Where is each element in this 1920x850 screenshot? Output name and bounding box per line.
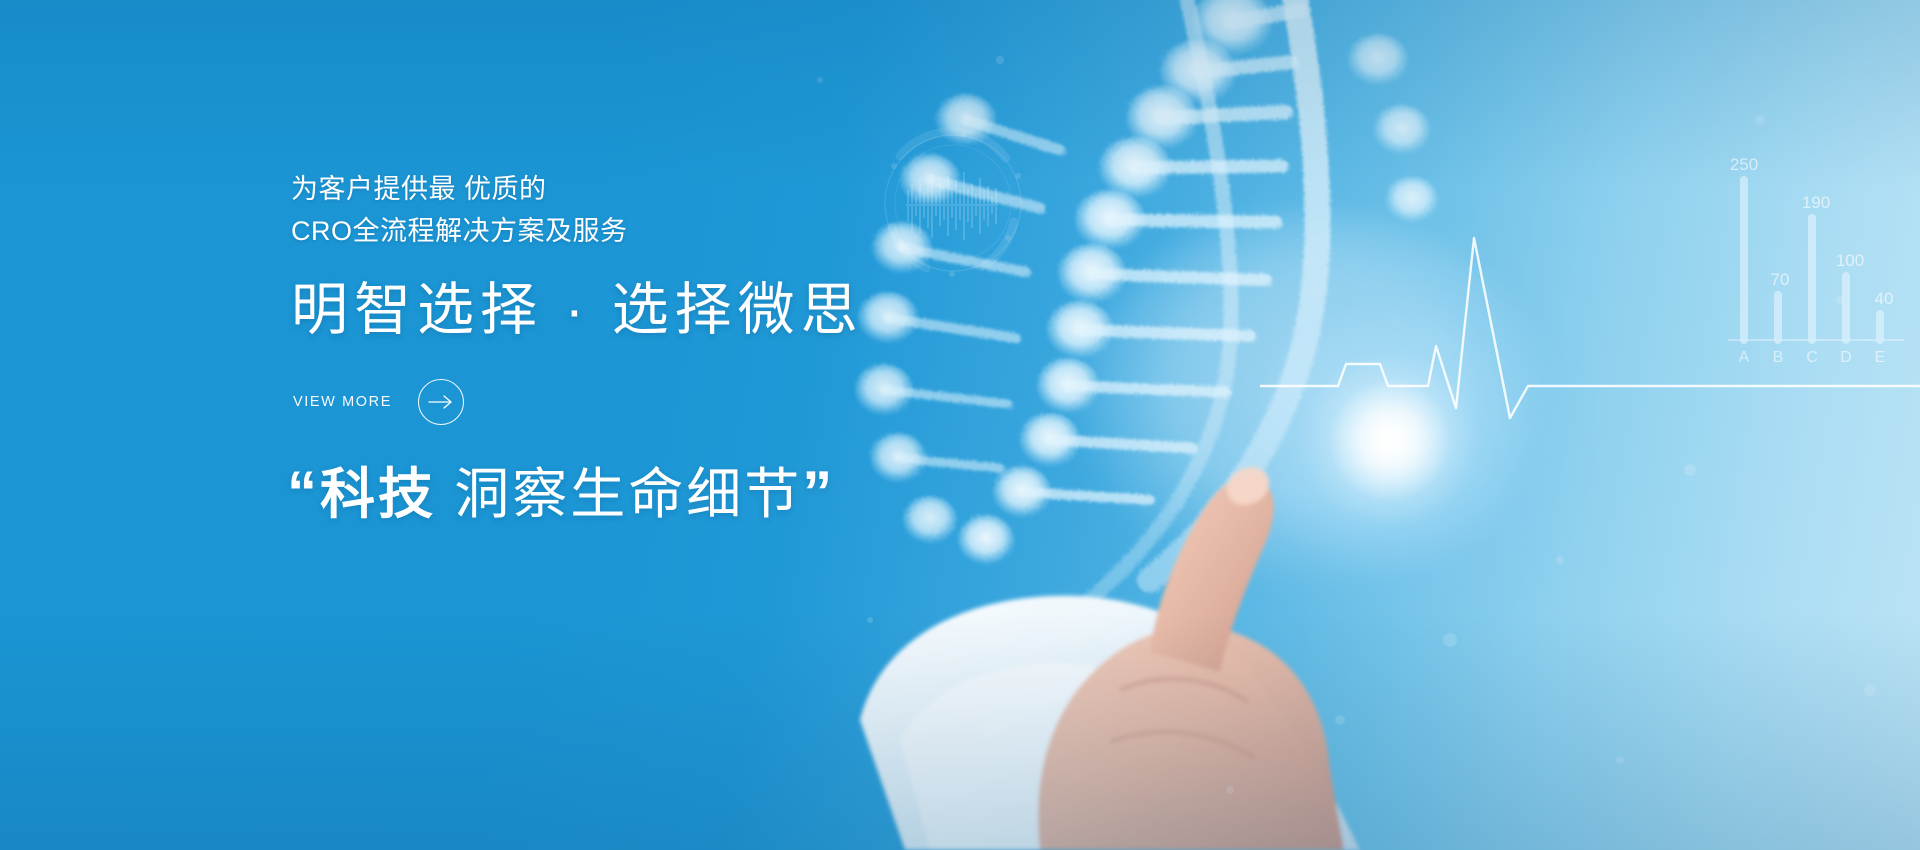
arrow-right-icon[interactable] [418,379,464,425]
view-more-button[interactable]: VIEW MORE [293,379,464,425]
hero-headline: 明智选择 · 选择微思 [291,275,864,345]
view-more-label: VIEW MORE [293,394,392,410]
quote-close-mark: ” [802,459,835,526]
hero-banner: 250 70 190 100 40 A B C D E [0,0,1920,850]
quote-open-mark: “ [287,459,320,526]
quote-strong-text: 科技 [320,463,436,525]
quote-light-text: 洞察生命细节 [436,463,802,525]
hero-subtitle: 为客户提供最 优质的 CRO全流程解决方案及服务 [291,168,628,252]
hero-copy-block: 为客户提供最 优质的 CRO全流程解决方案及服务 明智选择 · 选择微思 VIE… [291,0,1051,850]
hero-quote: “科技 洞察生命细节” [287,455,835,532]
